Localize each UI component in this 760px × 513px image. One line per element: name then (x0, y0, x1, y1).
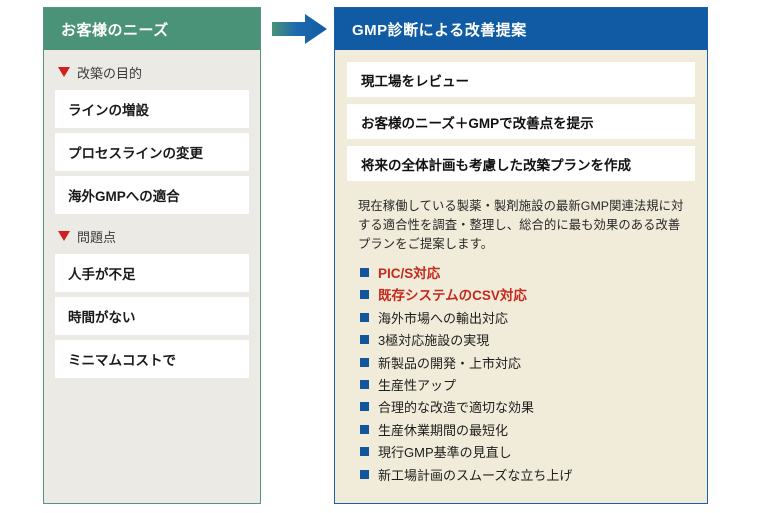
list-item-label: 新工場計画のスムーズな立ち上げ (378, 465, 572, 487)
square-bullet-icon (360, 402, 369, 411)
square-bullet-icon (360, 358, 369, 367)
customer-needs-panel-title: お客様のニーズ (44, 8, 260, 50)
list-item: 海外市場への輸出対応 (360, 308, 695, 330)
customer-needs-panel: お客様のニーズ 改築の目的 ラインの増設 プロセスラインの変更 海外GMPへの適… (43, 7, 261, 504)
gmp-proposal-panel-body: 現工場をレビュー お客様のニーズ＋GMPで改善点を提示 将来の全体計画も考慮した… (335, 50, 707, 487)
list-item-label: 生産休業期間の最短化 (378, 420, 508, 442)
list-item[interactable]: ミニマムコストで (55, 340, 249, 378)
gmp-proposal-panel: GMP診断による改善提案 現工場をレビュー お客様のニーズ＋GMPで改善点を提示… (334, 7, 708, 504)
list-item-label: 現行GMP基準の見直し (378, 442, 512, 464)
list-item-label: 3極対応施設の実現 (378, 330, 489, 352)
list-item: 既存システムのCSV対応 (360, 285, 695, 307)
list-item: 生産性アップ (360, 375, 695, 397)
square-bullet-icon (360, 290, 369, 299)
list-item[interactable]: 現工場をレビュー (347, 62, 695, 97)
list-item-label: PIC/S対応 (378, 263, 440, 285)
list-item[interactable]: プロセスラインの変更 (55, 133, 249, 171)
square-bullet-icon (360, 447, 369, 456)
square-bullet-icon (360, 380, 369, 389)
list-item: 現行GMP基準の見直し (360, 442, 695, 464)
proposal-description: 現在稼働している製薬・製剤施設の最新GMP関連法規に対する適合性を調査・整理し、… (347, 188, 695, 254)
list-item: PIC/S対応 (360, 263, 695, 285)
needs-group-label: 改築の目的 (77, 63, 142, 82)
list-item[interactable]: ラインの増設 (55, 90, 249, 128)
list-item-label: 生産性アップ (378, 375, 456, 397)
square-bullet-icon (360, 425, 369, 434)
list-item-label: 新製品の開発・上市対応 (378, 353, 521, 375)
triangle-down-icon (58, 67, 70, 77)
square-bullet-icon (360, 313, 369, 322)
needs-group-heading-issues: 問題点 (55, 221, 249, 251)
needs-group-heading-purpose: 改築の目的 (55, 57, 249, 87)
list-item: 合理的な改造で適切な効果 (360, 397, 695, 419)
list-item: 新工場計画のスムーズな立ち上げ (360, 465, 695, 487)
arrow-right-icon (272, 13, 328, 45)
list-item[interactable]: 人手が不足 (55, 254, 249, 292)
square-bullet-icon (360, 268, 369, 277)
list-item: 3極対応施設の実現 (360, 330, 695, 352)
customer-needs-panel-body: 改築の目的 ラインの増設 プロセスラインの変更 海外GMPへの適合 問題点 人手… (44, 57, 260, 378)
needs-group-label: 問題点 (77, 227, 116, 246)
list-item[interactable]: 海外GMPへの適合 (55, 176, 249, 214)
list-item[interactable]: 将来の全体計画も考慮した改築プランを作成 (347, 146, 695, 181)
triangle-down-icon (58, 231, 70, 241)
list-item[interactable]: お客様のニーズ＋GMPで改善点を提示 (347, 104, 695, 139)
benefit-list: PIC/S対応 既存システムのCSV対応 海外市場への輸出対応 3極対応施設の実… (347, 263, 695, 487)
list-item: 生産休業期間の最短化 (360, 420, 695, 442)
list-item: 新製品の開発・上市対応 (360, 353, 695, 375)
square-bullet-icon (360, 335, 369, 344)
square-bullet-icon (360, 470, 369, 479)
list-item-label: 合理的な改造で適切な効果 (378, 397, 534, 419)
gmp-proposal-panel-title: GMP診断による改善提案 (335, 8, 707, 50)
list-item-label: 海外市場への輸出対応 (378, 308, 508, 330)
list-item[interactable]: 時間がない (55, 297, 249, 335)
list-item-label: 既存システムのCSV対応 (378, 285, 527, 307)
